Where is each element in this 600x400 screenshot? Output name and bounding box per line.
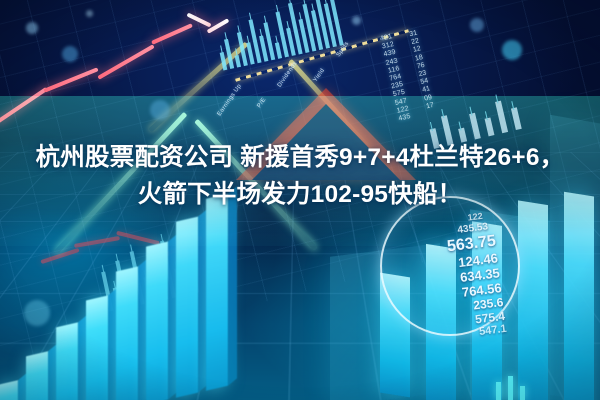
headline-block: 杭州股票配资公司 新援首秀9+7+4杜兰特26+6， 火箭下半场发力102-95… <box>0 140 600 212</box>
label-dividends: Dividends <box>277 60 299 88</box>
bokeh-dot <box>86 10 93 17</box>
bokeh-dot <box>24 300 50 326</box>
headline-line-2: 火箭下半场发力102-95快船！ <box>10 177 590 212</box>
thumbnail-image: Earnings Up Dividends Splits P/E Yield 4… <box>0 0 600 400</box>
label-yield: Yield <box>313 67 327 83</box>
bokeh-dot <box>150 100 170 120</box>
label-splits: Splits <box>336 41 351 58</box>
bokeh-dot <box>470 18 484 32</box>
bokeh-dot <box>502 40 522 60</box>
headline-line-1: 杭州股票配资公司 新援首秀9+7+4杜兰特26+6， <box>10 140 590 175</box>
bokeh-dot <box>352 16 361 25</box>
bokeh-dot <box>62 46 78 62</box>
bokeh-dot <box>26 22 38 34</box>
